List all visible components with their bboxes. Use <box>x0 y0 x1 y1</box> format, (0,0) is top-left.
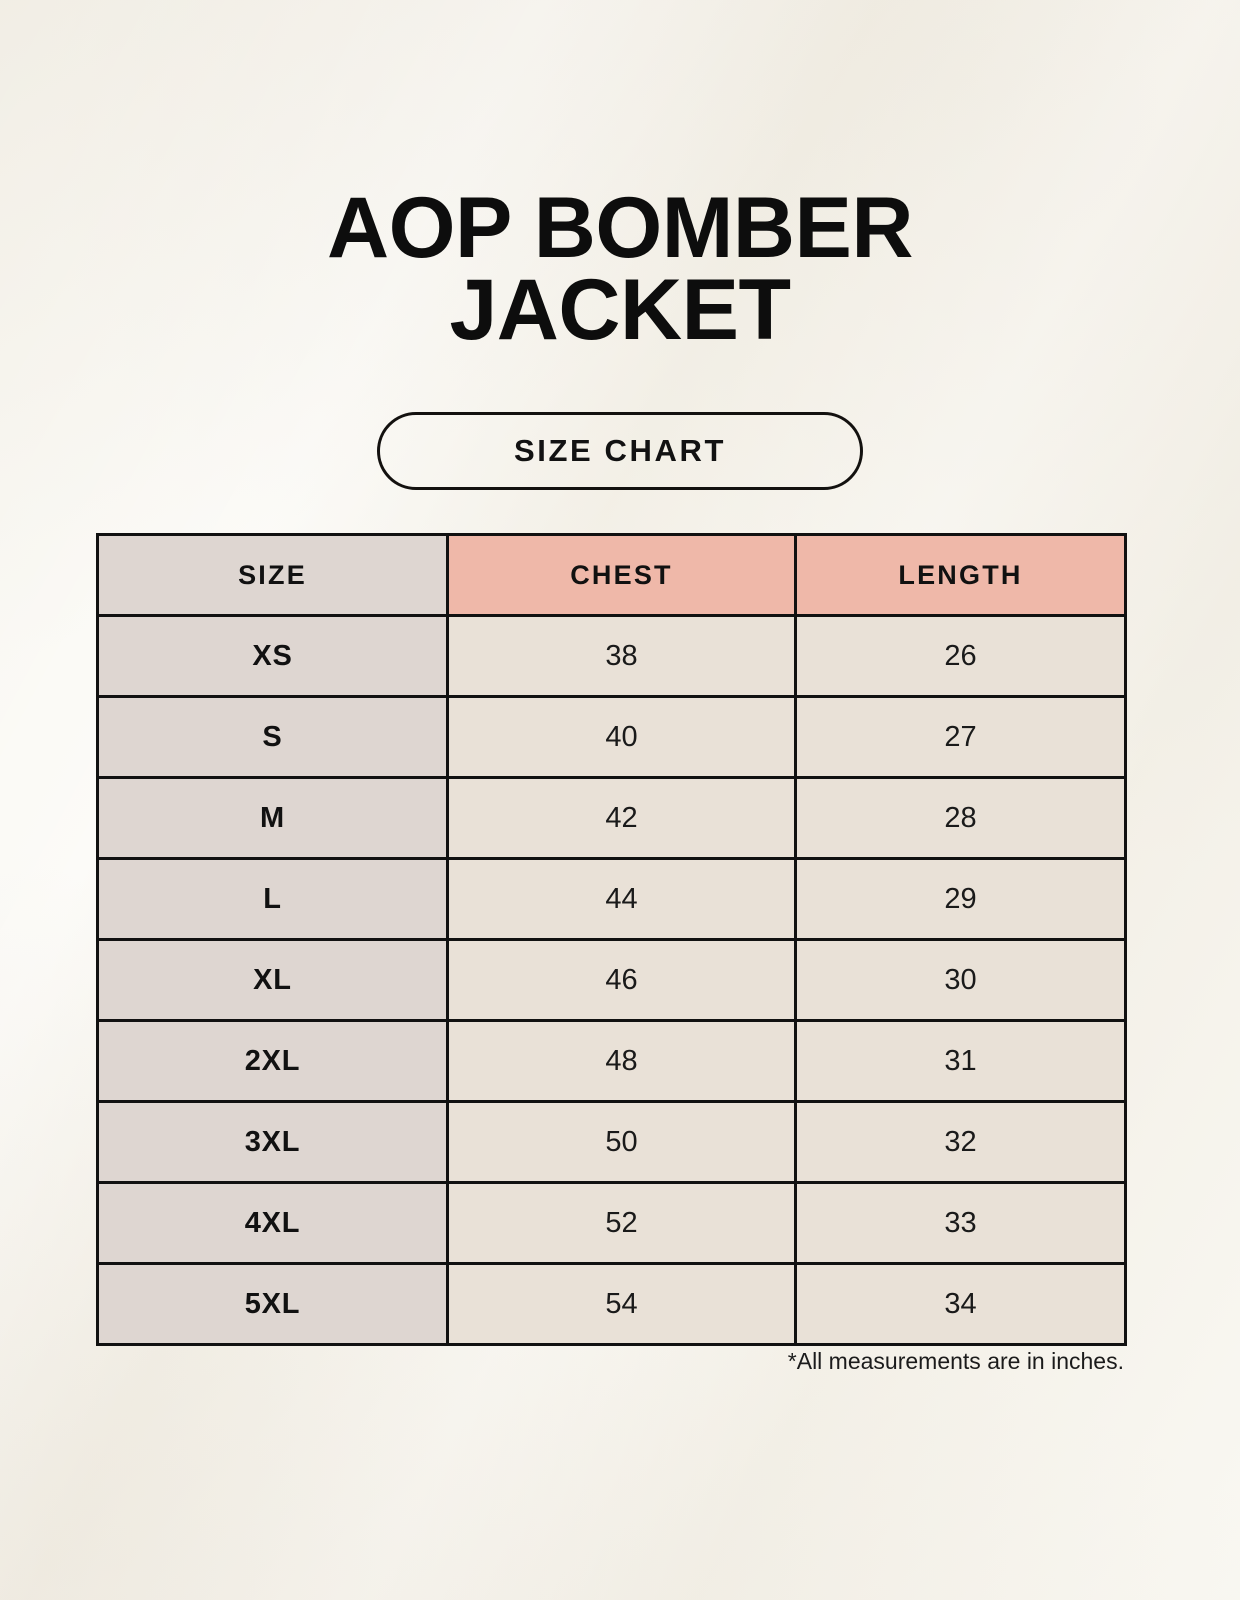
table-row: 3XL 50 32 <box>98 1102 1126 1183</box>
cell-chest: 46 <box>448 940 796 1021</box>
page-title: AOP BOMBER JACKET <box>0 188 1240 351</box>
cell-size: 5XL <box>98 1264 448 1345</box>
measurement-units-note: *All measurements are in inches. <box>96 1348 1124 1375</box>
cell-size: S <box>98 697 448 778</box>
cell-length: 29 <box>796 859 1126 940</box>
cell-length: 34 <box>796 1264 1126 1345</box>
table-row: S 40 27 <box>98 697 1126 778</box>
cell-chest: 50 <box>448 1102 796 1183</box>
cell-size: L <box>98 859 448 940</box>
badge-container: SIZE CHART <box>0 412 1240 490</box>
size-table: SIZE CHEST LENGTH XS 38 26 S 40 27 M <box>96 533 1127 1346</box>
cell-chest: 40 <box>448 697 796 778</box>
cell-length: 28 <box>796 778 1126 859</box>
table-row: 5XL 54 34 <box>98 1264 1126 1345</box>
column-header-chest: CHEST <box>448 535 796 616</box>
cell-length: 26 <box>796 616 1126 697</box>
table-row: XS 38 26 <box>98 616 1126 697</box>
size-table-head: SIZE CHEST LENGTH <box>98 535 1126 616</box>
cell-length: 27 <box>796 697 1126 778</box>
table-row: 2XL 48 31 <box>98 1021 1126 1102</box>
column-header-size: SIZE <box>98 535 448 616</box>
cell-chest: 44 <box>448 859 796 940</box>
size-table-body: XS 38 26 S 40 27 M 42 28 L 44 29 <box>98 616 1126 1345</box>
cell-length: 31 <box>796 1021 1126 1102</box>
table-row: L 44 29 <box>98 859 1126 940</box>
cell-size: 4XL <box>98 1183 448 1264</box>
cell-chest: 52 <box>448 1183 796 1264</box>
cell-size: 3XL <box>98 1102 448 1183</box>
cell-size: M <box>98 778 448 859</box>
table-row: XL 46 30 <box>98 940 1126 1021</box>
cell-length: 32 <box>796 1102 1126 1183</box>
cell-length: 30 <box>796 940 1126 1021</box>
cell-chest: 48 <box>448 1021 796 1102</box>
size-chart-page: AOP BOMBER JACKET SIZE CHART SIZE CHEST … <box>0 0 1240 1600</box>
size-chart-badge: SIZE CHART <box>377 412 863 490</box>
title-block: AOP BOMBER JACKET <box>0 188 1240 351</box>
column-header-length: LENGTH <box>796 535 1126 616</box>
table-row: M 42 28 <box>98 778 1126 859</box>
cell-length: 33 <box>796 1183 1126 1264</box>
table-header-row: SIZE CHEST LENGTH <box>98 535 1126 616</box>
cell-chest: 42 <box>448 778 796 859</box>
cell-size: XS <box>98 616 448 697</box>
cell-chest: 54 <box>448 1264 796 1345</box>
cell-chest: 38 <box>448 616 796 697</box>
cell-size: XL <box>98 940 448 1021</box>
cell-size: 2XL <box>98 1021 448 1102</box>
table-row: 4XL 52 33 <box>98 1183 1126 1264</box>
size-table-container: SIZE CHEST LENGTH XS 38 26 S 40 27 M <box>96 533 1124 1346</box>
